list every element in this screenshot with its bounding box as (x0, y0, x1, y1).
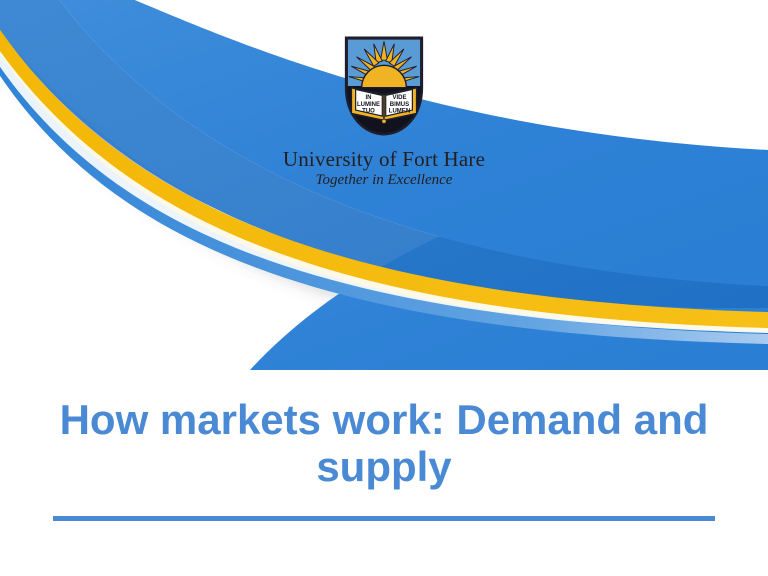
motto-right-line-2: BIMUS (390, 102, 409, 108)
slide-title: How markets work: Demand and supply (54, 396, 714, 490)
title-slide: IN LUMINE TUO VIDE BIMUS LUMEN Universit… (0, 0, 768, 576)
university-tagline: Together in Excellence (0, 171, 768, 189)
motto-left-line-2: LUMINE (357, 102, 380, 108)
university-of-fort-hare-crest-icon: IN LUMINE TUO VIDE BIMUS LUMEN (341, 34, 427, 138)
motto-right-line-1: VIDE (392, 95, 406, 101)
title-block: How markets work: Demand and supply (54, 396, 714, 490)
motto-left-line-3: TUO (362, 109, 375, 115)
university-logo-block: IN LUMINE TUO VIDE BIMUS LUMEN Universit… (0, 34, 768, 189)
university-name: University of Fort Hare (0, 148, 768, 171)
title-underline-rule (53, 516, 715, 521)
motto-left-line-1: IN (366, 95, 372, 101)
motto-right-line-3: LUMEN (389, 109, 410, 115)
